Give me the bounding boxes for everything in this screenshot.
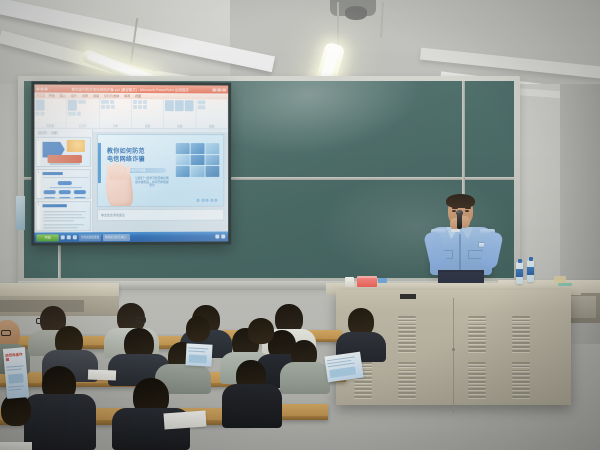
slide-thumbnail[interactable]: 2 bbox=[35, 169, 90, 200]
current-slide[interactable]: 教你如何防范 电信网络诈骗 防范电信网络诈骗宣传讲座 让我们一起学习防范电信网络… bbox=[97, 134, 224, 207]
student-head bbox=[248, 318, 274, 344]
find-icon[interactable] bbox=[197, 100, 205, 104]
green-object bbox=[558, 283, 572, 286]
bottle-cap bbox=[518, 259, 522, 263]
ribbon-tab-animations[interactable]: 动画 bbox=[92, 94, 100, 98]
handout-paper[interactable] bbox=[0, 442, 32, 450]
minimize-icon[interactable] bbox=[212, 88, 216, 91]
ribbon-body[interactable]: 剪贴板 幻灯片 字体 段落 bbox=[34, 99, 228, 130]
lamp-cord bbox=[337, 2, 339, 46]
tab-outline[interactable]: 大纲 bbox=[49, 130, 58, 134]
red-tissue-box bbox=[357, 276, 377, 287]
reset-icon[interactable] bbox=[68, 112, 76, 116]
thumbnail-title-bar bbox=[48, 155, 82, 163]
cut-icon[interactable] bbox=[35, 112, 39, 116]
ribbon-group-label: 幻灯片 bbox=[67, 124, 99, 128]
audience-area: 防范电信诈骗 bbox=[0, 300, 600, 450]
slide-thumbnail-preview bbox=[41, 202, 90, 231]
italic-icon[interactable] bbox=[106, 105, 110, 109]
bottle-cap bbox=[529, 257, 533, 261]
speaker-hair bbox=[446, 194, 475, 208]
undo-icon[interactable] bbox=[41, 87, 44, 90]
grid-image bbox=[191, 143, 205, 153]
speaker-police-officer bbox=[424, 196, 502, 292]
slide-thumbnail[interactable]: 3 bbox=[35, 201, 90, 232]
dot-indicator bbox=[210, 199, 213, 202]
notes-placeholder: 单击此处添加备注 bbox=[101, 213, 125, 217]
indent-icon[interactable] bbox=[143, 100, 147, 104]
grid-image bbox=[206, 143, 220, 153]
ribbon-tab-insert[interactable]: 插入 bbox=[59, 94, 67, 98]
thumbnail-image bbox=[67, 139, 85, 151]
handout-paper[interactable] bbox=[88, 370, 116, 381]
notes-pane[interactable]: 单击此处添加备注 bbox=[97, 209, 224, 221]
dot-indicator bbox=[214, 199, 217, 202]
student-glasses bbox=[1, 330, 11, 336]
anti-fraud-brochure[interactable]: 防范电信诈骗 bbox=[3, 347, 29, 399]
tray-volume-icon[interactable] bbox=[221, 235, 225, 239]
slide-accent-bar bbox=[98, 143, 101, 183]
ribbon-tab-file[interactable]: 文件 bbox=[36, 94, 44, 98]
grid-image bbox=[206, 166, 220, 176]
section-icon[interactable] bbox=[77, 112, 81, 116]
bottle-label bbox=[527, 267, 534, 275]
system-tray[interactable] bbox=[215, 234, 226, 238]
ribbon-tab-review[interactable]: 审阅 bbox=[123, 94, 131, 98]
maximize-icon[interactable] bbox=[217, 88, 221, 91]
windows-taskbar[interactable]: 开始 文件资源管理器 教你如何防范电信... bbox=[34, 232, 228, 243]
student-torso bbox=[280, 362, 330, 394]
bullets-icon[interactable] bbox=[133, 100, 137, 104]
paste-icon[interactable] bbox=[35, 100, 44, 111]
quick-access-toolbar[interactable] bbox=[34, 87, 47, 90]
ribbon-group-drawing[interactable]: 绘图 bbox=[164, 99, 196, 128]
grid-image bbox=[206, 155, 220, 165]
font-size-dropdown[interactable] bbox=[110, 100, 114, 104]
thumbnail-subtitle bbox=[50, 163, 80, 165]
taskbar-item-explorer[interactable]: 文件资源管理器 bbox=[79, 234, 101, 241]
grid-image bbox=[191, 166, 205, 177]
microphone-icon bbox=[457, 213, 462, 229]
quick-launch-icon[interactable] bbox=[73, 235, 77, 239]
quick-styles-icon[interactable] bbox=[185, 100, 194, 111]
bottle-label bbox=[516, 269, 523, 277]
blue-object bbox=[378, 278, 387, 283]
student-torso bbox=[24, 394, 96, 450]
align-right-icon[interactable] bbox=[143, 105, 147, 109]
ribbon-tab-slideshow[interactable]: 幻灯片放映 bbox=[103, 94, 120, 98]
dot-indicator bbox=[197, 199, 200, 202]
ribbon-tab-transitions[interactable]: 切换 bbox=[81, 94, 89, 98]
thumbnail-divider bbox=[43, 177, 89, 178]
student-glasses bbox=[36, 318, 45, 324]
student-torso bbox=[222, 384, 282, 428]
slide-thumbnail[interactable]: 1 bbox=[35, 136, 90, 167]
slide-editing-stage[interactable]: 教你如何防范 电信网络诈骗 防范电信网络诈骗宣传讲座 让我们一起学习防范电信网络… bbox=[93, 129, 228, 232]
underline-icon[interactable] bbox=[111, 105, 115, 109]
slide-image-grid bbox=[176, 143, 220, 177]
ceiling-vent-icon bbox=[345, 6, 367, 20]
ribbon-tab-home[interactable]: 开始 bbox=[48, 94, 56, 98]
ribbon-group-clipboard[interactable]: 剪贴板 bbox=[34, 99, 67, 128]
ribbon-tab-view[interactable]: 视图 bbox=[134, 94, 142, 98]
window-sliver bbox=[16, 196, 25, 230]
numbering-icon[interactable] bbox=[138, 100, 142, 104]
dot-indicator bbox=[201, 199, 204, 202]
slide-thumbnail-preview bbox=[41, 170, 90, 199]
quick-launch-icon[interactable] bbox=[61, 235, 65, 239]
align-left-icon[interactable] bbox=[133, 105, 137, 109]
thumbnail-title-bar bbox=[43, 204, 67, 207]
bold-icon[interactable] bbox=[101, 105, 105, 109]
student-glasses bbox=[136, 317, 146, 323]
student-head bbox=[1, 394, 31, 426]
new-slide-icon[interactable] bbox=[68, 100, 77, 111]
taskbar-item-powerpoint[interactable]: 教你如何防范电信... bbox=[103, 234, 130, 241]
ribbon-group-editing[interactable]: 编辑 bbox=[196, 99, 228, 128]
uniform-placket bbox=[459, 234, 461, 274]
ribbon-group-label: 字体 bbox=[100, 124, 131, 128]
left-front-desk bbox=[0, 283, 119, 297]
thumbnail-panel-tabs[interactable]: 幻灯片 大纲 bbox=[35, 130, 90, 135]
white-cup bbox=[345, 277, 354, 287]
ribbon-group-label: 绘图 bbox=[164, 124, 195, 128]
save-icon[interactable] bbox=[36, 87, 39, 90]
close-icon[interactable] bbox=[222, 88, 226, 91]
ribbon-group-label: 段落 bbox=[132, 124, 163, 128]
projection-screen[interactable]: 教你如何防范电信网络诈骗.ppt [兼容模式] - Microsoft Powe… bbox=[31, 81, 231, 245]
arrange-icon[interactable] bbox=[175, 100, 184, 111]
grid-image bbox=[176, 166, 190, 177]
layout-icon[interactable] bbox=[78, 100, 86, 104]
yellow-object bbox=[554, 276, 566, 283]
ribbon-group-label: 剪贴板 bbox=[34, 124, 66, 128]
student-head bbox=[186, 316, 210, 342]
window-title: 教你如何防范电信网络诈骗.ppt [兼容模式] - Microsoft Powe… bbox=[48, 86, 213, 92]
anti-fraud-brochure[interactable] bbox=[324, 352, 363, 383]
water-bottle bbox=[527, 260, 534, 282]
brochure-title: 防范电信诈骗 bbox=[5, 352, 26, 363]
tray-network-icon[interactable] bbox=[215, 235, 219, 239]
anti-fraud-brochure[interactable] bbox=[185, 343, 212, 366]
water-bottle bbox=[516, 262, 523, 284]
stage-ruler bbox=[93, 129, 228, 132]
ribbon-group-label: 编辑 bbox=[196, 124, 227, 128]
grid-image bbox=[191, 155, 205, 166]
powerpoint-title-bar: 教你如何防范电信网络诈骗.ppt [兼容模式] - Microsoft Powe… bbox=[34, 84, 228, 93]
slide-subtitle: 让我们一起学习防范电信网络诈骗知识，共同守护钱袋安全 bbox=[134, 177, 170, 188]
grid-image bbox=[176, 155, 190, 166]
black-object bbox=[400, 294, 416, 299]
projected-desktop[interactable]: 教你如何防范电信网络诈骗.ppt [兼容模式] - Microsoft Powe… bbox=[34, 84, 228, 242]
handout-paper[interactable] bbox=[163, 411, 206, 430]
ribbon-group-font[interactable]: 字体 bbox=[100, 99, 132, 128]
quick-launch-icon[interactable] bbox=[67, 235, 71, 239]
window-controls[interactable] bbox=[212, 88, 228, 91]
thumbnail-title-bar bbox=[43, 172, 63, 175]
copy-icon[interactable] bbox=[41, 112, 45, 116]
slide-thumbnail-preview bbox=[41, 137, 90, 166]
dot-indicator bbox=[206, 199, 209, 202]
slide-title-line1: 教你如何防范 bbox=[107, 149, 145, 157]
wristwatch bbox=[451, 229, 460, 232]
shapes-icon[interactable] bbox=[165, 100, 174, 111]
font-family-dropdown[interactable] bbox=[101, 100, 109, 104]
tab-slides[interactable]: 幻灯片 bbox=[36, 130, 48, 134]
replace-icon[interactable] bbox=[197, 105, 205, 109]
align-center-icon[interactable] bbox=[138, 105, 142, 109]
slide-dot-indicators bbox=[197, 199, 217, 202]
powerpoint-workspace[interactable]: 幻灯片 大纲 1 2 bbox=[34, 129, 228, 233]
ribbon-tab-design[interactable]: 设计 bbox=[70, 94, 78, 98]
ribbon-group-paragraph[interactable]: 段落 bbox=[132, 99, 164, 128]
classroom-scene: 教你如何防范电信网络诈骗.ppt [兼容模式] - Microsoft Powe… bbox=[0, 0, 600, 450]
ribbon-group-slides[interactable]: 幻灯片 bbox=[67, 99, 100, 128]
slide-thumbnail-panel[interactable]: 幻灯片 大纲 1 2 bbox=[34, 129, 93, 233]
grid-image bbox=[176, 143, 190, 154]
start-button[interactable]: 开始 bbox=[36, 234, 58, 241]
